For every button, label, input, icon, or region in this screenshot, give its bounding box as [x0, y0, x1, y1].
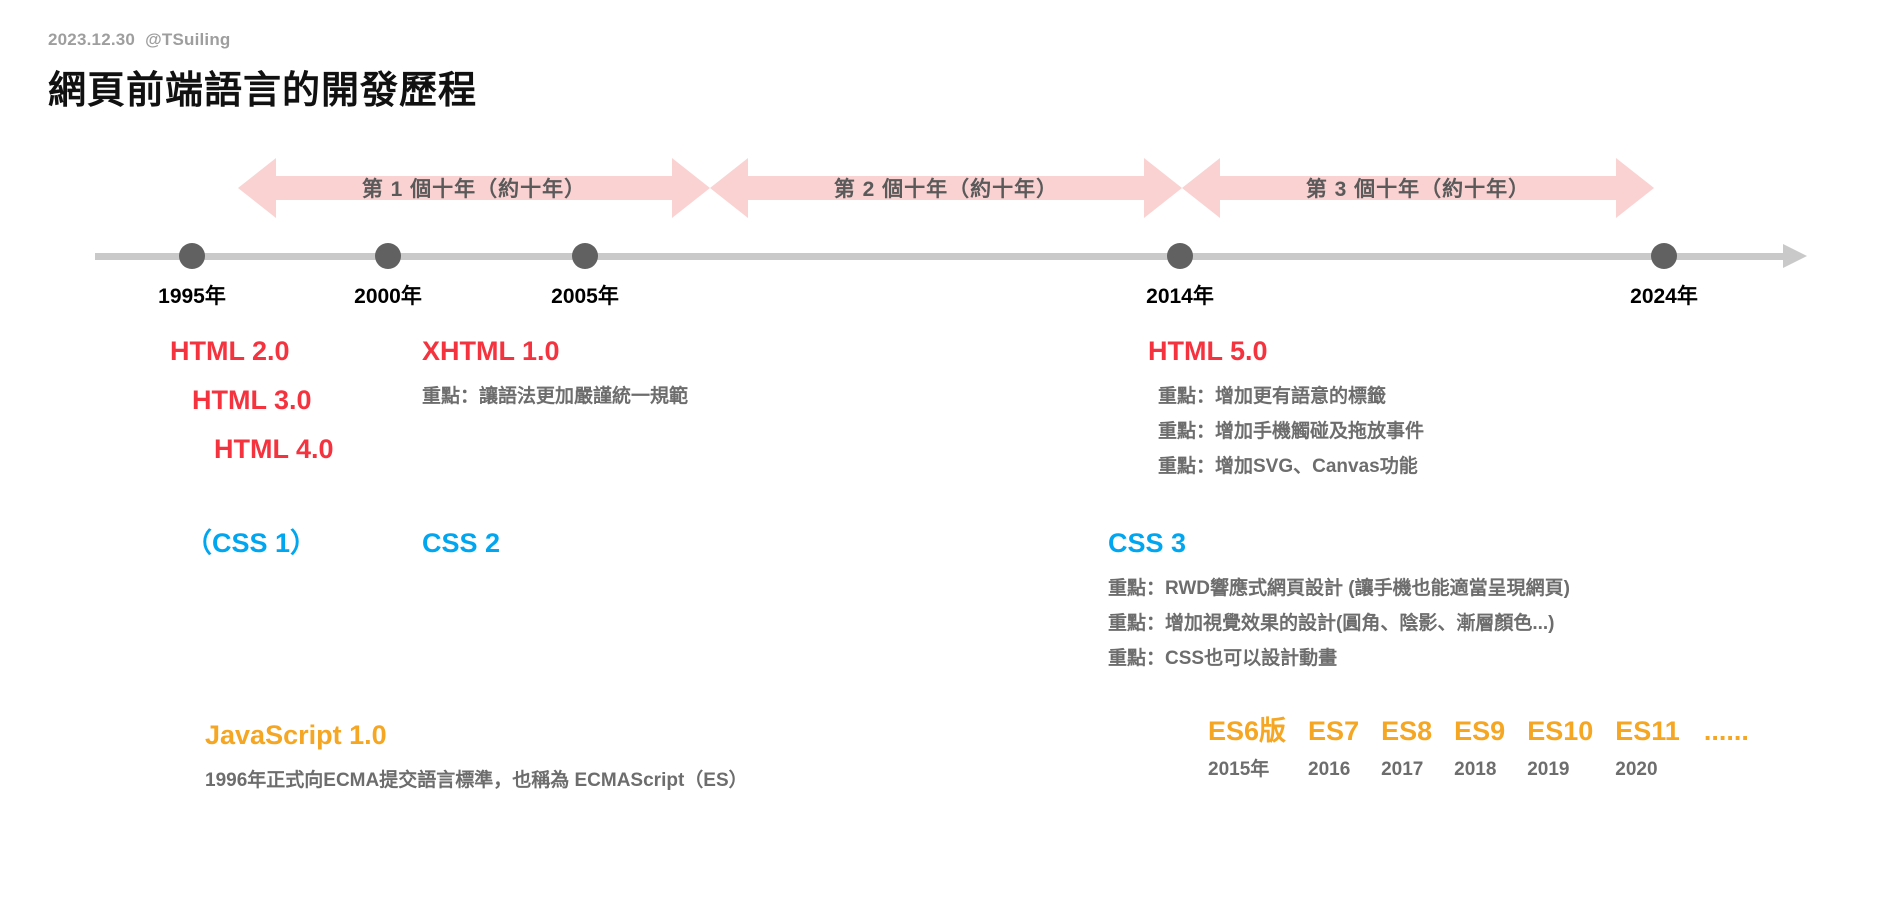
ecmascript-item: ES6版 2015年 [1208, 718, 1286, 779]
ecmascript-item: ES7 2016 [1308, 718, 1359, 779]
javascript-title: JavaScript 1.0 [205, 722, 748, 749]
xhtml-block: XHTML 1.0 重點：讓語法更加嚴謹統一規範 [422, 338, 688, 420]
ecmascript-version-label: ES9 [1454, 718, 1505, 745]
ecmascript-ellipsis-label: ...... [1704, 718, 1749, 745]
html-early-versions-block: HTML 2.0 HTML 3.0 HTML 4.0 [170, 338, 334, 485]
timeline-node-label: 1995年 [158, 280, 226, 310]
css3-block: CSS 3 重點：RWD響應式網頁設計 (讓手機也能適當呈現網頁) 重點：增加視… [1108, 530, 1570, 682]
html-version-label: HTML 2.0 [170, 338, 334, 365]
decade-arrow-2: 第 2 個十年（約十年） [710, 158, 1182, 218]
ecmascript-year-label: 2018 [1454, 760, 1496, 779]
javascript-notes: 1996年正式向ECMA提交語言標準，也稱為 ECMAScript（ES） [205, 771, 748, 790]
ecmascript-version-label: ES10 [1527, 718, 1593, 745]
html5-title: HTML 5.0 [1148, 338, 1424, 365]
html5-note: 重點：增加SVG、Canvas功能 [1158, 457, 1424, 476]
css1-title: （CSS 1） [185, 530, 317, 557]
ecmascript-item: ES9 2018 [1454, 718, 1505, 779]
css1-block: （CSS 1） [185, 530, 317, 557]
ecmascript-version-label: ES7 [1308, 718, 1359, 745]
html5-notes: 重點：增加更有語意的標籤 重點：增加手機觸碰及拖放事件 重點：增加SVG、Can… [1148, 387, 1424, 476]
css3-notes: 重點：RWD響應式網頁設計 (讓手機也能適當呈現網頁) 重點：增加視覺效果的設計… [1108, 579, 1570, 668]
decade-arrow-3: 第 3 個十年（約十年） [1182, 158, 1654, 218]
html5-block: HTML 5.0 重點：增加更有語意的標籤 重點：增加手機觸碰及拖放事件 重點：… [1148, 338, 1424, 490]
ecmascript-item: ES8 2017 [1381, 718, 1432, 779]
javascript-block: JavaScript 1.0 1996年正式向ECMA提交語言標準，也稱為 EC… [205, 722, 748, 804]
css3-note: 重點：RWD響應式網頁設計 (讓手機也能適當呈現網頁) [1108, 579, 1570, 598]
decade-label-1: 第 1 個十年（約十年） [238, 158, 710, 218]
ecmascript-year-label: 2015年 [1208, 760, 1269, 779]
decade-label-3: 第 3 個十年（約十年） [1182, 158, 1654, 218]
html5-note: 重點：增加手機觸碰及拖放事件 [1158, 422, 1424, 441]
html5-note: 重點：增加更有語意的標籤 [1158, 387, 1424, 406]
html-version-label: HTML 3.0 [170, 387, 334, 414]
css3-title: CSS 3 [1108, 530, 1570, 557]
timeline-node-dot[interactable] [375, 243, 401, 269]
timeline-node-dot[interactable] [1651, 243, 1677, 269]
ecmascript-item: ...... [1704, 718, 1749, 760]
timeline-node-dot[interactable] [1167, 243, 1193, 269]
ecmascript-year-label: 2016 [1308, 760, 1350, 779]
timeline-node-dot[interactable] [179, 243, 205, 269]
xhtml-note: 重點：讓語法更加嚴謹統一規範 [422, 387, 688, 406]
timeline-node-label: 2005年 [551, 280, 619, 310]
css3-note: 重點：增加視覺效果的設計(圓角、陰影、漸層顏色...) [1108, 614, 1570, 633]
ecmascript-item: ES10 2019 [1527, 718, 1593, 779]
timeline-axis-line [95, 253, 1785, 260]
timeline-node-label: 2024年 [1630, 280, 1698, 310]
ecmascript-block: ES6版 2015年 ES7 2016 ES8 2017 ES9 2018 ES… [1208, 718, 1749, 779]
html-version-label: HTML 4.0 [170, 436, 334, 463]
ecmascript-version-label: ES6版 [1208, 718, 1286, 745]
css2-title: CSS 2 [422, 530, 500, 557]
xhtml-notes: 重點：讓語法更加嚴謹統一規範 [422, 387, 688, 406]
css3-note: 重點：CSS也可以設計動畫 [1108, 649, 1570, 668]
ecmascript-version-label: ES8 [1381, 718, 1432, 745]
ecmascript-version-label: ES11 [1615, 718, 1680, 745]
ecmascript-year-label: 2020 [1615, 760, 1657, 779]
ecmascript-year-label: 2019 [1527, 760, 1569, 779]
xhtml-title: XHTML 1.0 [422, 338, 688, 365]
timeline-node-label: 2000年 [354, 280, 422, 310]
ecmascript-item: ES11 2020 [1615, 718, 1680, 779]
timeline-axis-arrow-icon [1783, 244, 1807, 268]
timeline-node-dot[interactable] [572, 243, 598, 269]
decade-arrow-1: 第 1 個十年（約十年） [238, 158, 710, 218]
javascript-note: 1996年正式向ECMA提交語言標準，也稱為 ECMAScript（ES） [205, 771, 748, 790]
decade-label-2: 第 2 個十年（約十年） [710, 158, 1182, 218]
timeline-node-label: 2014年 [1146, 280, 1214, 310]
ecmascript-year-label: 2017 [1381, 760, 1423, 779]
css2-block: CSS 2 [422, 530, 500, 557]
